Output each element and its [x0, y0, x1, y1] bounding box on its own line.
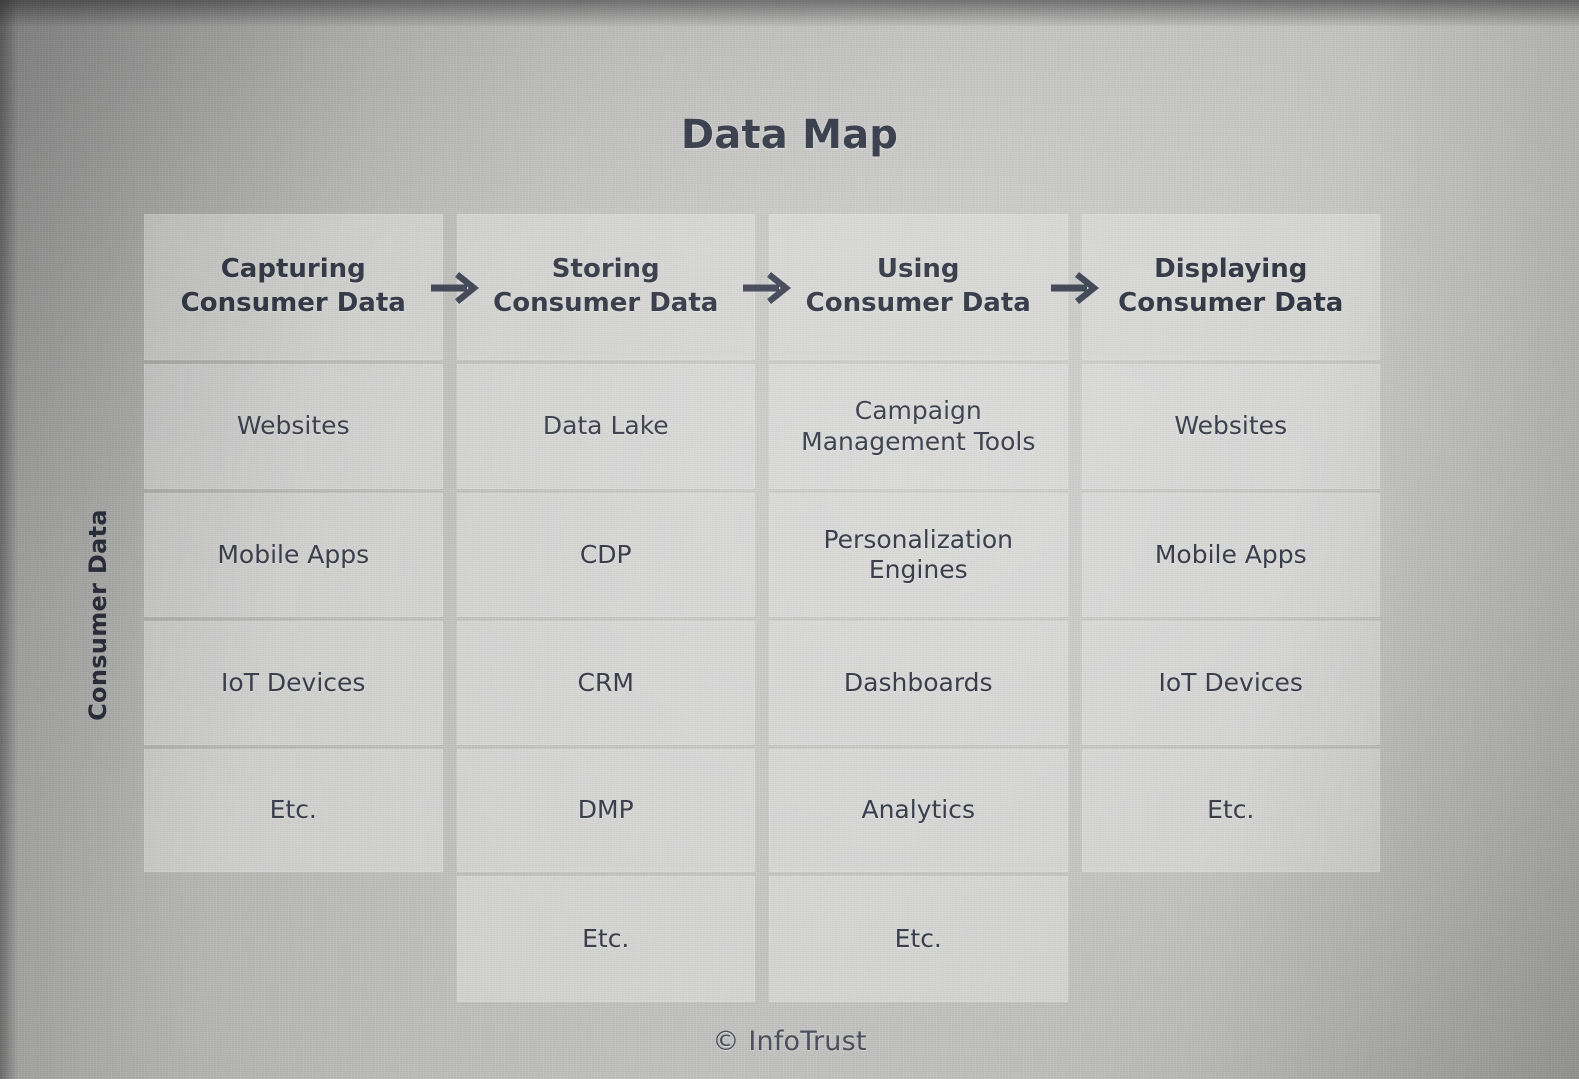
column-header-capturing-line2: Consumer Data — [181, 287, 406, 321]
table-cell[interactable]: Websites — [1082, 364, 1381, 489]
table-cell-line1: Campaign — [801, 396, 1035, 427]
table-cell[interactable]: Mobile Apps — [1082, 493, 1381, 617]
table-cell-line2: Engines — [823, 555, 1013, 586]
table-cell[interactable]: Etc. — [457, 876, 756, 1002]
table-cell-line2: Management Tools — [801, 427, 1035, 458]
column-header-displaying-line2: Consumer Data — [1118, 287, 1343, 321]
table-cell[interactable]: DMP — [457, 749, 756, 872]
column-header-displaying[interactable]: Displaying Consumer Data — [1082, 214, 1381, 360]
table-cell-line1: Personalization — [823, 525, 1013, 556]
table-cell-empty — [144, 876, 443, 1002]
column-header-using-line1: Using — [806, 253, 1031, 287]
column-header-using-line2: Consumer Data — [806, 287, 1031, 321]
column-header-storing-line2: Consumer Data — [493, 287, 718, 321]
table-cell[interactable]: Analytics — [769, 749, 1068, 872]
data-map-grid: Capturing Consumer Data Storing Consumer… — [144, 214, 1380, 982]
column-header-capturing-line1: Capturing — [181, 253, 406, 287]
column-header-capturing[interactable]: Capturing Consumer Data — [144, 214, 443, 360]
table-cell[interactable]: Personalization Engines — [769, 493, 1068, 617]
column-header-storing-line1: Storing — [493, 253, 718, 287]
table-cell[interactable]: Data Lake — [457, 364, 756, 489]
table-cell[interactable]: Campaign Management Tools — [769, 364, 1068, 489]
vertical-axis-label: Consumer Data — [74, 500, 122, 730]
table-cell[interactable]: Etc. — [769, 876, 1068, 1002]
column-header-displaying-line1: Displaying — [1118, 253, 1343, 287]
table-cell[interactable]: Websites — [144, 364, 443, 489]
footer-credit: © InfoTrust — [0, 1026, 1579, 1057]
table-cell[interactable]: Mobile Apps — [144, 493, 443, 617]
table-cell[interactable]: Etc. — [1082, 749, 1381, 872]
table-cell[interactable]: CRM — [457, 621, 756, 745]
column-header-using[interactable]: Using Consumer Data — [769, 214, 1068, 360]
page-title: Data Map — [0, 112, 1579, 158]
table-cell[interactable]: CDP — [457, 493, 756, 617]
table-cell[interactable]: Etc. — [144, 749, 443, 872]
slide-content: Data Map Consumer Data Capturing Consume… — [0, 0, 1579, 1079]
column-header-storing[interactable]: Storing Consumer Data — [457, 214, 756, 360]
table-cell[interactable]: IoT Devices — [144, 621, 443, 745]
table-cell[interactable]: IoT Devices — [1082, 621, 1381, 745]
table-cell-empty — [1082, 876, 1381, 1002]
vertical-axis-label-text: Consumer Data — [84, 509, 112, 721]
table-cell[interactable]: Dashboards — [769, 621, 1068, 745]
